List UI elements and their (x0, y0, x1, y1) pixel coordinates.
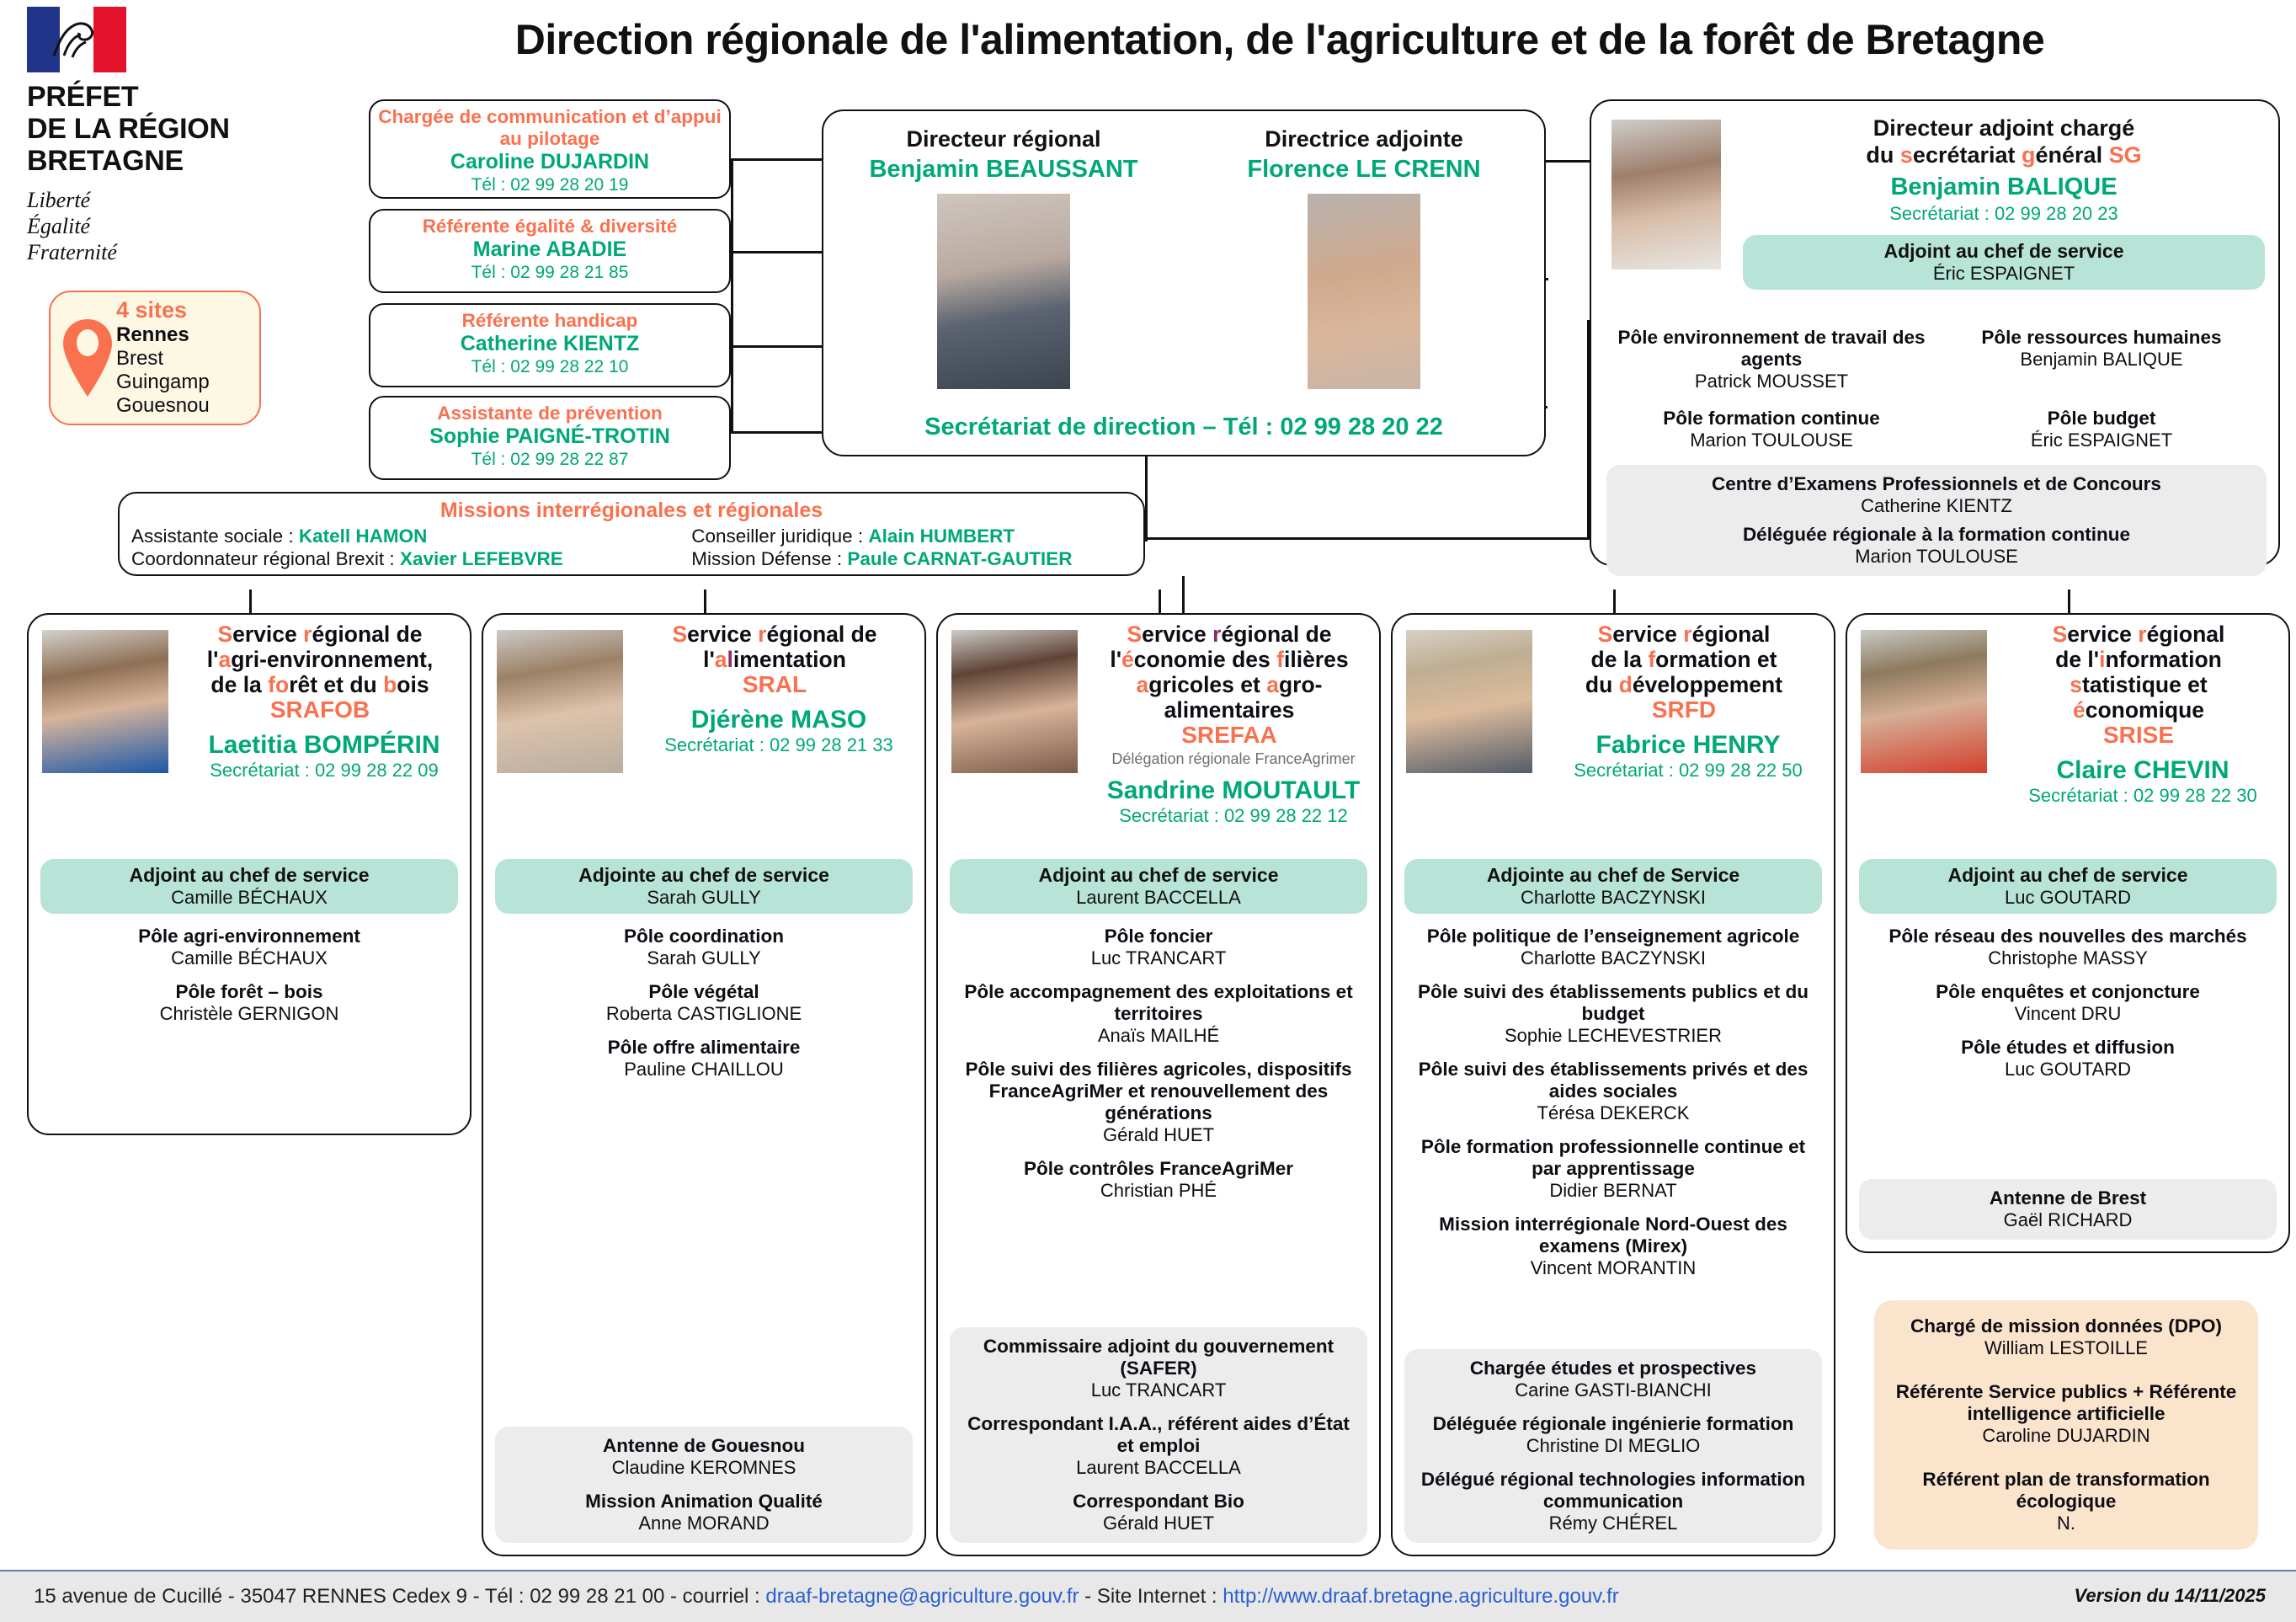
mission-name: Katell HAMON (299, 526, 428, 547)
sg-director-photo (1611, 120, 1721, 269)
service-pole: Pôle offre alimentairePauline CHAILLOU (495, 1037, 913, 1080)
sg-grey-box: Centre d’Examens Professionnels et de Co… (1606, 465, 2267, 576)
direction-card: Directeur régional Benjamin BEAUSSANT Di… (822, 109, 1546, 456)
mission-label: Mission Défense : (691, 548, 847, 569)
service-pole-title: Pôle suivi des établissements publics et… (1404, 981, 1822, 1025)
director-name: Benjamin BEAUSSANT (823, 156, 1184, 184)
missions-title: Missions interrégionales et régionales (131, 499, 1132, 523)
service-grey-title: Déléguée régionale ingénierie formation (1416, 1413, 1810, 1435)
reference-box-1: Chargée de communication et d’appui au p… (369, 99, 731, 199)
reference-box-2: Référente égalité & diversitéMarine ABAD… (369, 209, 731, 293)
org-chart-page: PRÉFET DE LA RÉGION BRETAGNE Liberté Éga… (0, 0, 2296, 1622)
transversal-missions-box: Chargé de mission données (DPO)William L… (1874, 1300, 2258, 1550)
service-body: Adjointe au chef de serviceSarah GULLYPô… (483, 859, 924, 1092)
sg-header: Directeur adjoint chargé du secrétariat … (1743, 115, 2265, 290)
service-acronym: SRAFOB (178, 697, 461, 723)
connector-line (731, 158, 822, 161)
service-acronym: SREFAA (1088, 723, 1371, 748)
service-pole-name: Christèle GERNIGON (40, 1003, 458, 1025)
service-grey-title: Antenne de Brest (1871, 1187, 2265, 1209)
reference-phone: Tél : 02 99 28 20 19 (377, 174, 722, 195)
service-grey-name: Gérald HUET (962, 1513, 1356, 1534)
sg-secretariat: Secrétariat : 02 99 28 20 23 (1743, 203, 2265, 225)
service-pole: Pôle études et diffusionLuc GOUTARD (1859, 1037, 2277, 1080)
service-secretariat: Secrétariat : 02 99 28 21 33 (633, 734, 924, 756)
service-title: Service régional del'économie des filièr… (1088, 615, 1379, 748)
sites-title: 4 sites (116, 298, 210, 322)
connector-line (1546, 278, 1548, 280)
sg-pole-title: Pôle formation continue (1606, 408, 1936, 430)
service-grey-name: Christine DI MEGLIO (1416, 1435, 1810, 1457)
mission-label: Conseiller juridique : (691, 526, 868, 547)
service-pole-name: Christian PHÉ (950, 1180, 1367, 1202)
site-brest: Brest (116, 347, 210, 371)
service-secretariat: Secrétariat : 02 99 28 22 30 (1997, 785, 2288, 807)
service-grey-name: Rémy CHÉREL (1416, 1513, 1810, 1534)
service-chief-name: Sandrine MOUTAULT (1088, 776, 1379, 805)
footer-website-link[interactable]: http://www.draaf.bretagne.agriculture.go… (1223, 1585, 1618, 1608)
reference-role: Assistante de prévention (377, 403, 722, 424)
service-pole-title: Pôle enquêtes et conjoncture (1859, 981, 2277, 1003)
transversal-title: Référent plan de transformation écologiq… (1888, 1469, 2245, 1513)
service-grey-title: Délégué régional technologies informatio… (1416, 1469, 1810, 1513)
connector-line (731, 345, 822, 348)
service-grey-title: Antenne de Gouesnou (507, 1435, 901, 1457)
service-pole-title: Pôle forêt – bois (40, 981, 458, 1003)
mission-item: Coordonnateur régional Brexit : Xavier L… (131, 547, 691, 570)
service-grey-title: Correspondant Bio (962, 1491, 1356, 1513)
sg-pole: Pôle formation continue Marion TOULOUSE (1606, 408, 1936, 451)
french-flag-icon (27, 7, 126, 72)
service-pole-title: Pôle suivi des établissements privés et … (1404, 1059, 1822, 1102)
service-pole-name: Vincent DRU (1859, 1003, 2277, 1025)
sg-pole-name: Benjamin BALIQUE (1936, 349, 2267, 371)
service-adjoint-name: Sarah GULLY (503, 887, 904, 909)
page-title: Direction régionale de l'alimentation, d… (278, 15, 2282, 64)
service-grey-box: Chargée études et prospectivesCarine GAS… (1404, 1349, 1822, 1543)
service-pole-title: Pôle études et diffusion (1859, 1037, 2277, 1059)
mission-name: Paule CARNAT-GAUTIER (847, 548, 1072, 569)
service-pole-title: Pôle politique de l’enseignement agricol… (1404, 926, 1822, 947)
service-title: Service régionalde la formation etdu dév… (1542, 615, 1834, 723)
direction-secretariat: Secrétariat de direction – Tél : 02 99 2… (823, 414, 1544, 441)
service-pole: Pôle forêt – boisChristèle GERNIGON (40, 981, 458, 1025)
sg-title-line2: du secrétariat général SG (1743, 141, 2265, 168)
service-adjoint-role: Adjoint au chef de service (958, 864, 1359, 887)
service-pole-name: Sarah GULLY (495, 947, 913, 969)
logo-line-2: DE LA RÉGION (27, 113, 293, 145)
deputy-director-block: Directrice adjointe Florence LE CRENN (1184, 126, 1544, 389)
sg-pole-name: Patrick MOUSSET (1606, 371, 1936, 392)
connector-line (1159, 590, 1161, 615)
service-chief-name: Djérène MASO (633, 706, 924, 734)
footer-version: Version du 14/11/2025 (2075, 1585, 2266, 1607)
service-grey-name: Gaël RICHARD (1871, 1209, 2265, 1231)
service-title: Service régional del'alimentationSRAL (633, 615, 924, 697)
reference-name: Sophie PAIGNÉ-TROTIN (377, 424, 722, 449)
service-adjoint-box: Adjoint au chef de serviceLuc GOUTARD (1859, 859, 2277, 914)
transversal-name: Caroline DUJARDIN (1888, 1425, 2245, 1447)
reference-role: Référente handicap (377, 310, 722, 332)
service-grey-name: Claudine KEROMNES (507, 1457, 901, 1479)
service-grey-title: Commissaire adjoint du gouvernement (SAF… (962, 1336, 1356, 1379)
sites-card: 4 sites Rennes Brest Guingamp Gouesnou (49, 291, 261, 425)
service-body: Adjointe au chef de ServiceCharlotte BAC… (1393, 859, 1834, 1291)
service-title: Service régional del'agri-environnement,… (178, 615, 470, 723)
reference-role: Référente égalité & diversité (377, 216, 722, 237)
sg-pole: Pôle budget Éric ESPAIGNET (1936, 408, 2267, 451)
service-pole-title: Pôle formation professionnelle continue … (1404, 1136, 1822, 1180)
service-chief-photo (1406, 630, 1532, 773)
service-grey-name: Laurent BACCELLA (962, 1457, 1356, 1479)
service-grey-name: Luc TRANCART (962, 1379, 1356, 1401)
service-pole-name: Christophe MASSY (1859, 947, 2277, 969)
connector-line (2068, 590, 2070, 615)
service-chief-photo (42, 630, 168, 773)
service-pole-title: Pôle foncier (950, 926, 1367, 947)
sg-title-line1: Directeur adjoint chargé (1743, 115, 2265, 141)
sg-grey-name: Marion TOULOUSE (1618, 546, 2255, 568)
service-pole-title: Pôle accompagnement des exploitations et… (950, 981, 1367, 1025)
sg-pole-title: Pôle environnement de travail des agents (1606, 327, 1936, 371)
reference-box-3: Référente handicapCatherine KIENTZTél : … (369, 303, 731, 387)
logo-line-1: PRÉFET (27, 81, 293, 113)
transversal-title: Référente Service publics + Référente in… (1888, 1381, 2245, 1425)
sg-grey-title: Déléguée régionale à la formation contin… (1618, 524, 2255, 546)
service-pole: Mission interrégionale Nord-Ouest des ex… (1404, 1214, 1822, 1279)
connector-line (249, 590, 252, 615)
service-header: Service régional del'agri-environnement,… (29, 615, 470, 859)
service-body: Adjoint au chef de serviceLaurent BACCEL… (938, 859, 1379, 1214)
service-chief-name: Laetitia BOMPÉRIN (178, 731, 470, 760)
service-header: Service régionalde l'informationstatisti… (1847, 615, 2288, 859)
service-card-srise: Service régionalde l'informationstatisti… (1846, 613, 2290, 1253)
sg-pole-name: Éric ESPAIGNET (1936, 430, 2267, 451)
service-card-srfd: Service régionalde la formation etdu dév… (1391, 613, 1835, 1556)
logo-line-3: BRETAGNE (27, 145, 293, 177)
service-adjoint-box: Adjoint au chef de serviceCamille BÉCHAU… (40, 859, 458, 914)
service-pole-title: Pôle suivi des filières agricoles, dispo… (950, 1059, 1367, 1124)
service-pole: Pôle foncierLuc TRANCART (950, 926, 1367, 969)
sg-pole-title: Pôle ressources humaines (1936, 327, 2267, 349)
map-pin-icon (59, 317, 116, 398)
service-chief-photo (951, 630, 1078, 773)
service-acronym: SRAL (633, 672, 916, 697)
service-pole: Pôle accompagnement des exploitations et… (950, 981, 1367, 1047)
service-title: Service régionalde l'informationstatisti… (1997, 615, 2288, 748)
service-grey-box: Antenne de GouesnouClaudine KEROMNESMiss… (495, 1427, 913, 1543)
sg-adjoint-box: Adjoint au chef de service Éric ESPAIGNE… (1743, 235, 2265, 290)
service-chief-photo (1861, 630, 1987, 773)
transversal-name: N. (1888, 1513, 2245, 1534)
service-grey-box: Antenne de BrestGaël RICHARD (1859, 1179, 2277, 1240)
footer-email-link[interactable]: draaf-bretagne@agriculture.gouv.fr (765, 1585, 1079, 1608)
service-pole-name: Vincent MORANTIN (1404, 1257, 1822, 1279)
footer-address: 15 avenue de Cucillé - 35047 RENNES Cede… (34, 1585, 765, 1608)
deputy-photo (1308, 194, 1420, 389)
deputy-name: Florence LE CRENN (1184, 156, 1544, 184)
prefet-logo: PRÉFET DE LA RÉGION BRETAGNE Liberté Éga… (15, 7, 293, 265)
connector-line (704, 590, 706, 615)
reference-name: Marine ABADIE (377, 237, 722, 262)
reference-name: Catherine KIENTZ (377, 332, 722, 356)
service-pole-title: Pôle agri-environnement (40, 926, 458, 947)
service-pole-name: Térésa DEKERCK (1404, 1102, 1822, 1124)
sites-list: 4 sites Rennes Brest Guingamp Gouesnou (116, 298, 210, 418)
service-pole-title: Pôle végétal (495, 981, 913, 1003)
site-gouesnou: Gouesnou (116, 394, 210, 418)
sg-pole-title: Pôle budget (1936, 408, 2267, 430)
devise-liberte: Liberté (27, 187, 293, 213)
service-pole: Pôle agri-environnementCamille BÉCHAUX (40, 926, 458, 969)
service-adjoint-name: Laurent BACCELLA (958, 887, 1359, 909)
service-pole: Pôle suivi des établissements publics et… (1404, 981, 1822, 1047)
service-pole: Pôle suivi des filières agricoles, dispo… (950, 1059, 1367, 1146)
service-pole-name: Luc GOUTARD (1859, 1059, 2277, 1080)
service-pole-title: Pôle réseau des nouvelles des marchés (1859, 926, 2277, 947)
sg-grey-title: Centre d’Examens Professionnels et de Co… (1618, 473, 2255, 495)
service-grey-name: Anne MORAND (507, 1513, 901, 1534)
service-pole: Pôle formation professionnelle continue … (1404, 1136, 1822, 1202)
connector-line (1145, 537, 1590, 540)
service-card-srefaa: Service régional del'économie des filièr… (936, 613, 1381, 1556)
reference-role: Chargée de communication et d’appui au p… (377, 106, 722, 150)
reference-phone: Tél : 02 99 28 22 87 (377, 449, 722, 470)
sg-pole-name: Marion TOULOUSE (1606, 430, 1936, 451)
service-pole-title: Pôle offre alimentaire (495, 1037, 913, 1059)
service-pole-name: Pauline CHAILLOU (495, 1059, 913, 1080)
service-adjoint-role: Adjoint au chef de service (1867, 864, 2268, 887)
director-photo (937, 194, 1070, 389)
footer-site-label: - Site Internet : (1079, 1585, 1223, 1608)
connector-line (731, 431, 822, 434)
service-pole-name: Gérald HUET (950, 1124, 1367, 1146)
service-adjoint-role: Adjoint au chef de service (49, 864, 450, 887)
service-pole-name: Roberta CASTIGLIONE (495, 1003, 913, 1025)
service-pole-name: Sophie LECHEVESTRIER (1404, 1025, 1822, 1047)
sg-pole: Pôle environnement de travail des agents… (1606, 327, 1936, 392)
service-pole-name: Camille BÉCHAUX (40, 947, 458, 969)
service-pole-title: Pôle contrôles FranceAgriMer (950, 1158, 1367, 1180)
service-pole: Pôle enquêtes et conjonctureVincent DRU (1859, 981, 2277, 1025)
sg-director-name: Benjamin BALIQUE (1743, 173, 2265, 201)
service-adjoint-box: Adjointe au chef de serviceSarah GULLY (495, 859, 913, 914)
service-acronym: SRISE (1997, 723, 2280, 748)
site-rennes: Rennes (116, 323, 210, 347)
director-role: Directeur régional (823, 126, 1184, 152)
sg-adjoint-role: Adjoint au chef de service (1751, 240, 2256, 263)
service-pole: Pôle suivi des établissements privés et … (1404, 1059, 1822, 1124)
service-pole: Pôle politique de l’enseignement agricol… (1404, 926, 1822, 969)
service-grey-title: Correspondant I.A.A., référent aides d’É… (962, 1413, 1356, 1457)
service-header: Service régional del'économie des filièr… (938, 615, 1379, 859)
reference-phone: Tél : 02 99 28 22 10 (377, 356, 722, 377)
connector-line (731, 158, 733, 434)
missions-card: Missions interrégionales et régionales A… (118, 492, 1145, 576)
service-pole-title: Mission interrégionale Nord-Ouest des ex… (1404, 1214, 1822, 1257)
sg-pole: Pôle ressources humaines Benjamin BALIQU… (1936, 327, 2267, 392)
service-adjoint-box: Adjointe au chef de ServiceCharlotte BAC… (1404, 859, 1822, 914)
service-chief-name: Fabrice HENRY (1542, 731, 1834, 760)
service-grey-name: Carine GASTI-BIANCHI (1416, 1379, 1810, 1401)
service-adjoint-name: Camille BÉCHAUX (49, 887, 450, 909)
service-card-sral: Service régional del'alimentationSRALDjé… (482, 613, 926, 1556)
transversal-name: William LESTOILLE (1888, 1337, 2245, 1359)
connector-line (731, 251, 822, 253)
service-pole-title: Pôle coordination (495, 926, 913, 947)
service-acronym: SRFD (1542, 697, 1825, 723)
reference-box-4: Assistante de préventionSophie PAIGNÉ-TR… (369, 396, 731, 480)
transversal-title: Chargé de mission données (DPO) (1888, 1315, 2245, 1337)
service-header: Service régionalde la formation etdu dév… (1393, 615, 1834, 859)
service-body: Adjoint au chef de serviceLuc GOUTARDPôl… (1847, 859, 2288, 1092)
service-grey-title: Chargée études et prospectives (1416, 1358, 1810, 1379)
service-adjoint-name: Charlotte BACZYNSKI (1413, 887, 1814, 909)
mission-name: Xavier LEFEBVRE (400, 548, 563, 569)
service-header: Service régional del'alimentationSRALDjé… (483, 615, 924, 859)
service-card-srafob: Service régional del'agri-environnement,… (27, 613, 471, 1135)
service-grey-title: Mission Animation Qualité (507, 1491, 901, 1513)
secretariat-general-card: Directeur adjoint chargé du secrétariat … (1590, 99, 2280, 566)
sg-adjoint-name: Éric ESPAIGNET (1751, 263, 2256, 285)
devise-egalite: Égalité (27, 213, 293, 239)
service-body: Adjoint au chef de serviceCamille BÉCHAU… (29, 859, 470, 1037)
service-grey-box: Commissaire adjoint du gouvernement (SAF… (950, 1327, 1367, 1543)
mission-item: Assistante sociale : Katell HAMON (131, 525, 691, 547)
footer: 15 avenue de Cucillé - 35047 RENNES Cede… (0, 1570, 2296, 1622)
service-pole: Pôle coordinationSarah GULLY (495, 926, 913, 969)
service-pole-name: Charlotte BACZYNSKI (1404, 947, 1822, 969)
footer-contact: 15 avenue de Cucillé - 35047 RENNES Cede… (34, 1585, 1619, 1609)
service-chief-photo (497, 630, 623, 773)
service-pole-name: Anaïs MAILHÉ (950, 1025, 1367, 1047)
service-adjoint-box: Adjoint au chef de serviceLaurent BACCEL… (950, 859, 1367, 914)
service-secretariat: Secrétariat : 02 99 28 22 50 (1542, 760, 1834, 782)
deputy-role: Directrice adjointe (1184, 126, 1544, 152)
service-pole-name: Luc TRANCART (950, 947, 1367, 969)
mission-item: Conseiller juridique : Alain HUMBERT (691, 525, 1132, 547)
service-pole: Pôle contrôles FranceAgriMerChristian PH… (950, 1158, 1367, 1202)
reference-name: Caroline DUJARDIN (377, 150, 722, 174)
service-adjoint-role: Adjointe au chef de Service (1413, 864, 1814, 887)
reference-phone: Tél : 02 99 28 21 85 (377, 262, 722, 283)
mission-label: Assistante sociale : (131, 526, 299, 547)
director-block: Directeur régional Benjamin BEAUSSANT (823, 126, 1184, 389)
site-guingamp: Guingamp (116, 371, 210, 394)
mission-item: Mission Défense : Paule CARNAT-GAUTIER (691, 547, 1132, 570)
service-pole: Pôle réseau des nouvelles des marchésChr… (1859, 926, 2277, 969)
service-chief-name: Claire CHEVIN (1997, 756, 2288, 785)
connector-line (1613, 590, 1616, 615)
devise-fraternite: Fraternité (27, 239, 293, 265)
sg-grey-name: Catherine KIENTZ (1618, 495, 2255, 517)
service-pole-name: Didier BERNAT (1404, 1180, 1822, 1202)
sg-poles: Pôle environnement de travail des agents… (1606, 327, 2267, 576)
connector-line (1182, 576, 1185, 615)
mission-label: Coordonnateur régional Brexit : (131, 548, 400, 569)
service-adjoint-name: Luc GOUTARD (1867, 887, 2268, 909)
service-secretariat: Secrétariat : 02 99 28 22 09 (178, 760, 470, 782)
marianne-icon (47, 13, 106, 66)
service-subtitle: Délégation régionale FranceAgrimer (1088, 750, 1379, 768)
mission-name: Alain HUMBERT (868, 526, 1015, 547)
service-adjoint-role: Adjointe au chef de service (503, 864, 904, 887)
service-pole: Pôle végétalRoberta CASTIGLIONE (495, 981, 913, 1025)
service-secretariat: Secrétariat : 02 99 28 22 12 (1088, 805, 1379, 827)
